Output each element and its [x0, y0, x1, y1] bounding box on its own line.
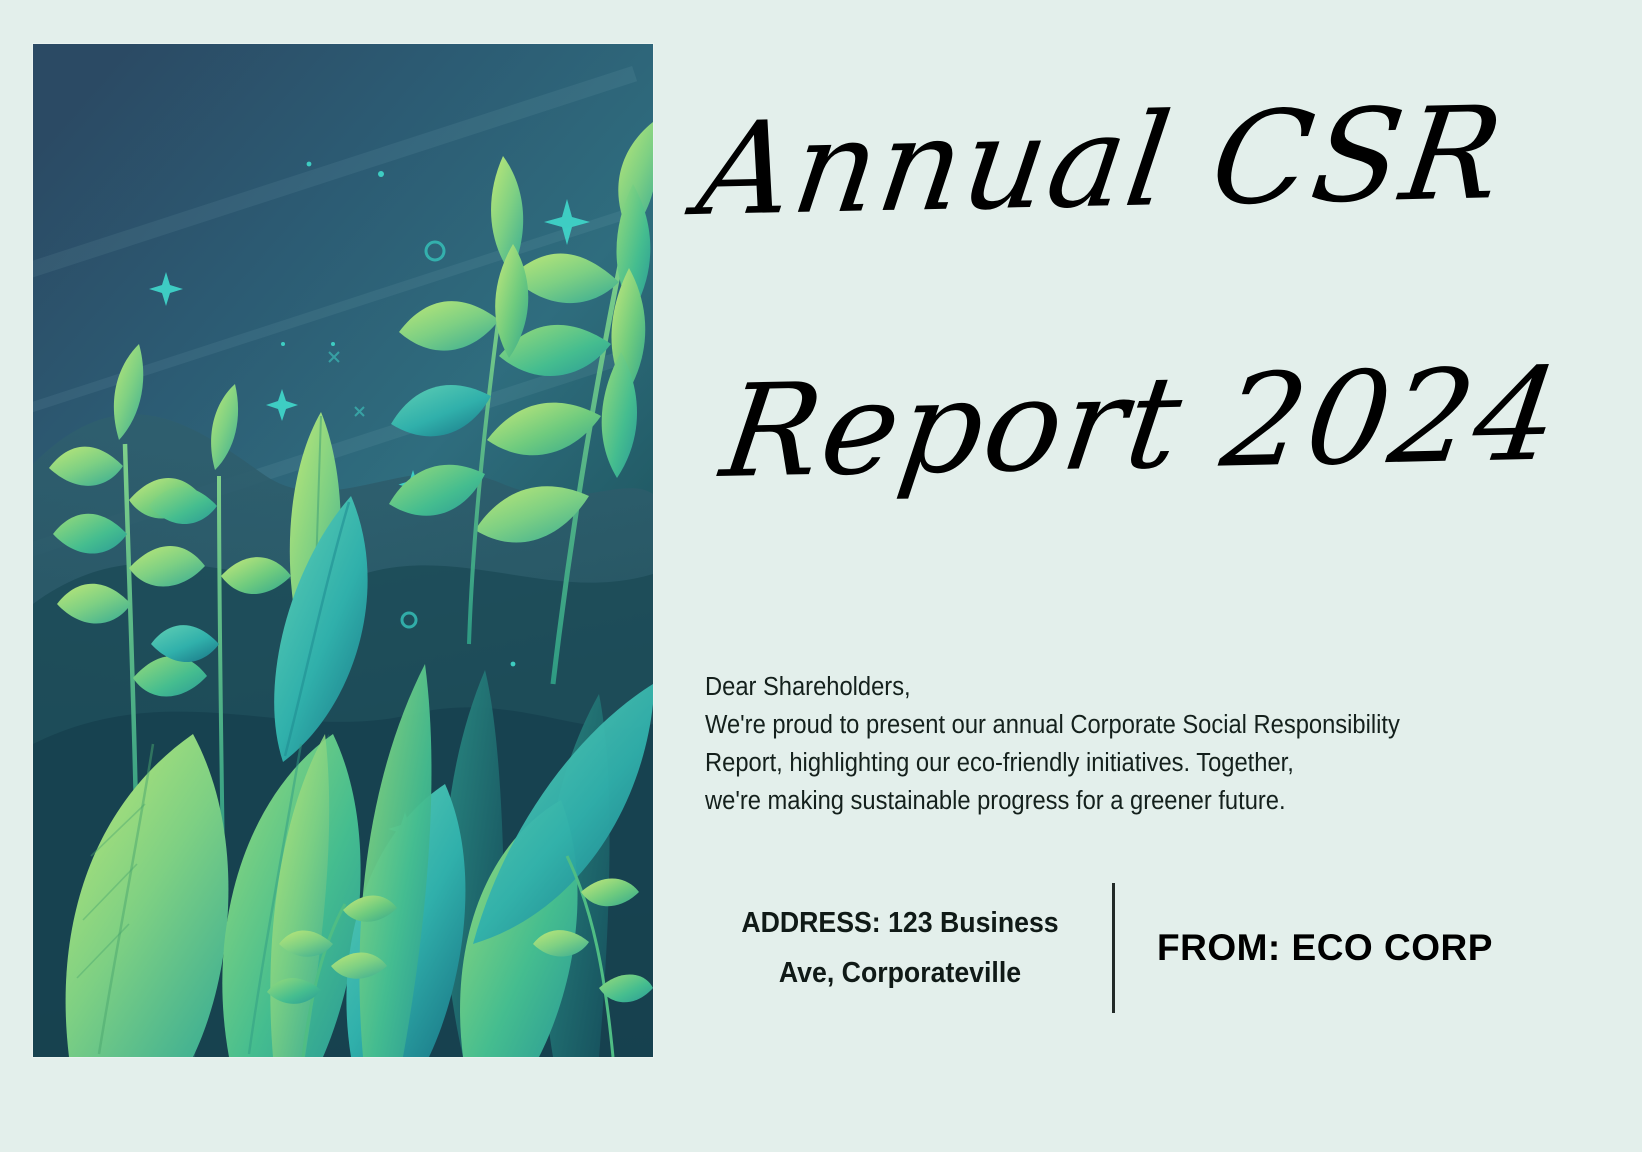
letter-line-1: Dear Shareholders,: [705, 668, 1468, 706]
page-title: Annual CSR Report 2024: [700, 96, 1600, 508]
address-block: ADDRESS: 123 Business Ave, Corporatevill…: [700, 898, 1100, 998]
letter-line-4: we're making sustainable progress for a …: [705, 782, 1468, 820]
letter-line-3: Report, highlighting our eco-friendly in…: [705, 744, 1468, 782]
letter-body: Dear Shareholders, We're proud to presen…: [705, 668, 1525, 820]
illustration-svg: [33, 44, 653, 1057]
content-column: Annual CSR Report 2024 Dear Shareholders…: [700, 0, 1600, 1152]
vertical-divider: [1112, 883, 1115, 1013]
address-line-1: ADDRESS: 123 Business: [716, 898, 1084, 948]
address-line-2: Ave, Corporateville: [716, 948, 1084, 998]
poster-canvas: Annual CSR Report 2024 Dear Shareholders…: [0, 0, 1642, 1152]
from-label: FROM: ECO CORP: [1157, 927, 1493, 969]
footer-bar: ADDRESS: 123 Business Ave, Corporatevill…: [700, 878, 1560, 1018]
title-line-2: Report 2024: [714, 340, 1613, 508]
botanical-illustration: [33, 44, 653, 1057]
title-line-1: Annual CSR: [690, 77, 1613, 246]
letter-line-2: We're proud to present our annual Corpor…: [705, 706, 1468, 744]
